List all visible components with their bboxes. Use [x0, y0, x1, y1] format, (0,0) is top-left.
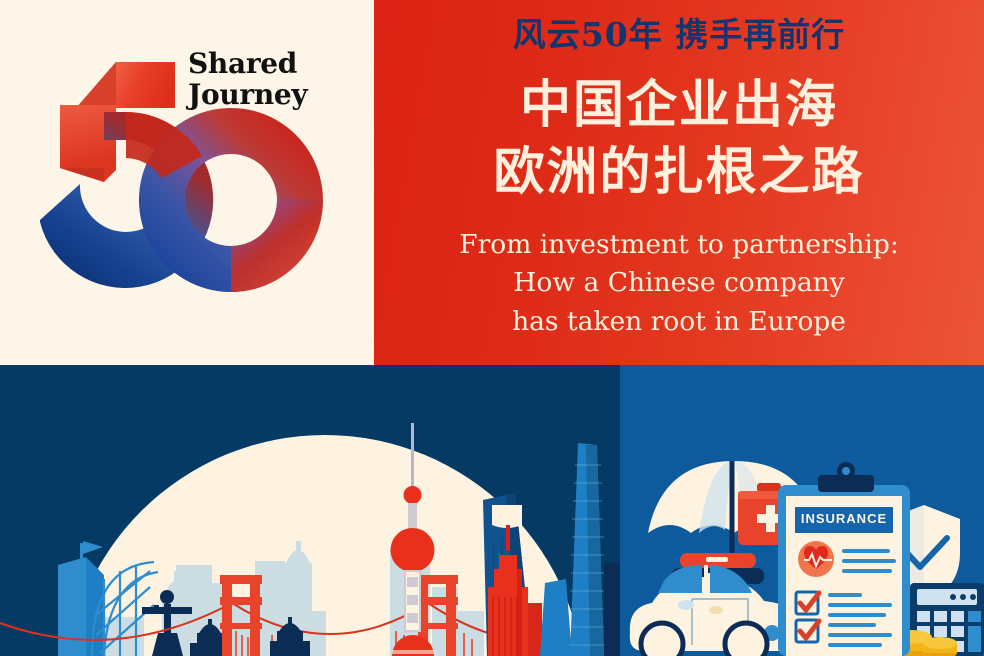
clipboard-text-lines	[842, 549, 896, 573]
english-subtitle-line1: From investment to partnership:	[374, 226, 984, 264]
headline-panel: 风云50年 携手再前行 中国企业出海 欧洲的扎根之路 From investme…	[374, 0, 984, 365]
right-edge-building	[604, 563, 620, 656]
logo-panel: Shared Journey	[0, 0, 374, 365]
chinese-title: 中国企业出海 欧洲的扎根之路	[374, 72, 984, 207]
chinese-title-line1: 中国企业出海	[374, 72, 984, 139]
logo-wordmark-line1: Shared	[188, 48, 363, 79]
clipboard	[778, 462, 910, 656]
english-subtitle: From investment to partnership: How a Ch…	[374, 226, 984, 341]
clipboard-title-text: INSURANCE	[795, 511, 893, 526]
poster-root: Shared Journey 风云50年 携手再前行 中国企业出海 欧洲的扎根之…	[0, 0, 984, 656]
cityscape-illustration	[0, 365, 620, 656]
logo-wordmark: Shared Journey	[188, 48, 363, 111]
heart-pulse-icon	[798, 541, 834, 577]
english-subtitle-line2: How a Chinese company	[374, 264, 984, 302]
logo-wordmark-line2: Journey	[188, 79, 363, 110]
chinese-title-line2: 欧洲的扎根之路	[374, 139, 984, 206]
insurance-illustration: INSURANCE	[620, 365, 984, 656]
kicker-text: 风云50年 携手再前行	[374, 8, 984, 56]
english-subtitle-line3: has taken root in Europe	[374, 303, 984, 341]
